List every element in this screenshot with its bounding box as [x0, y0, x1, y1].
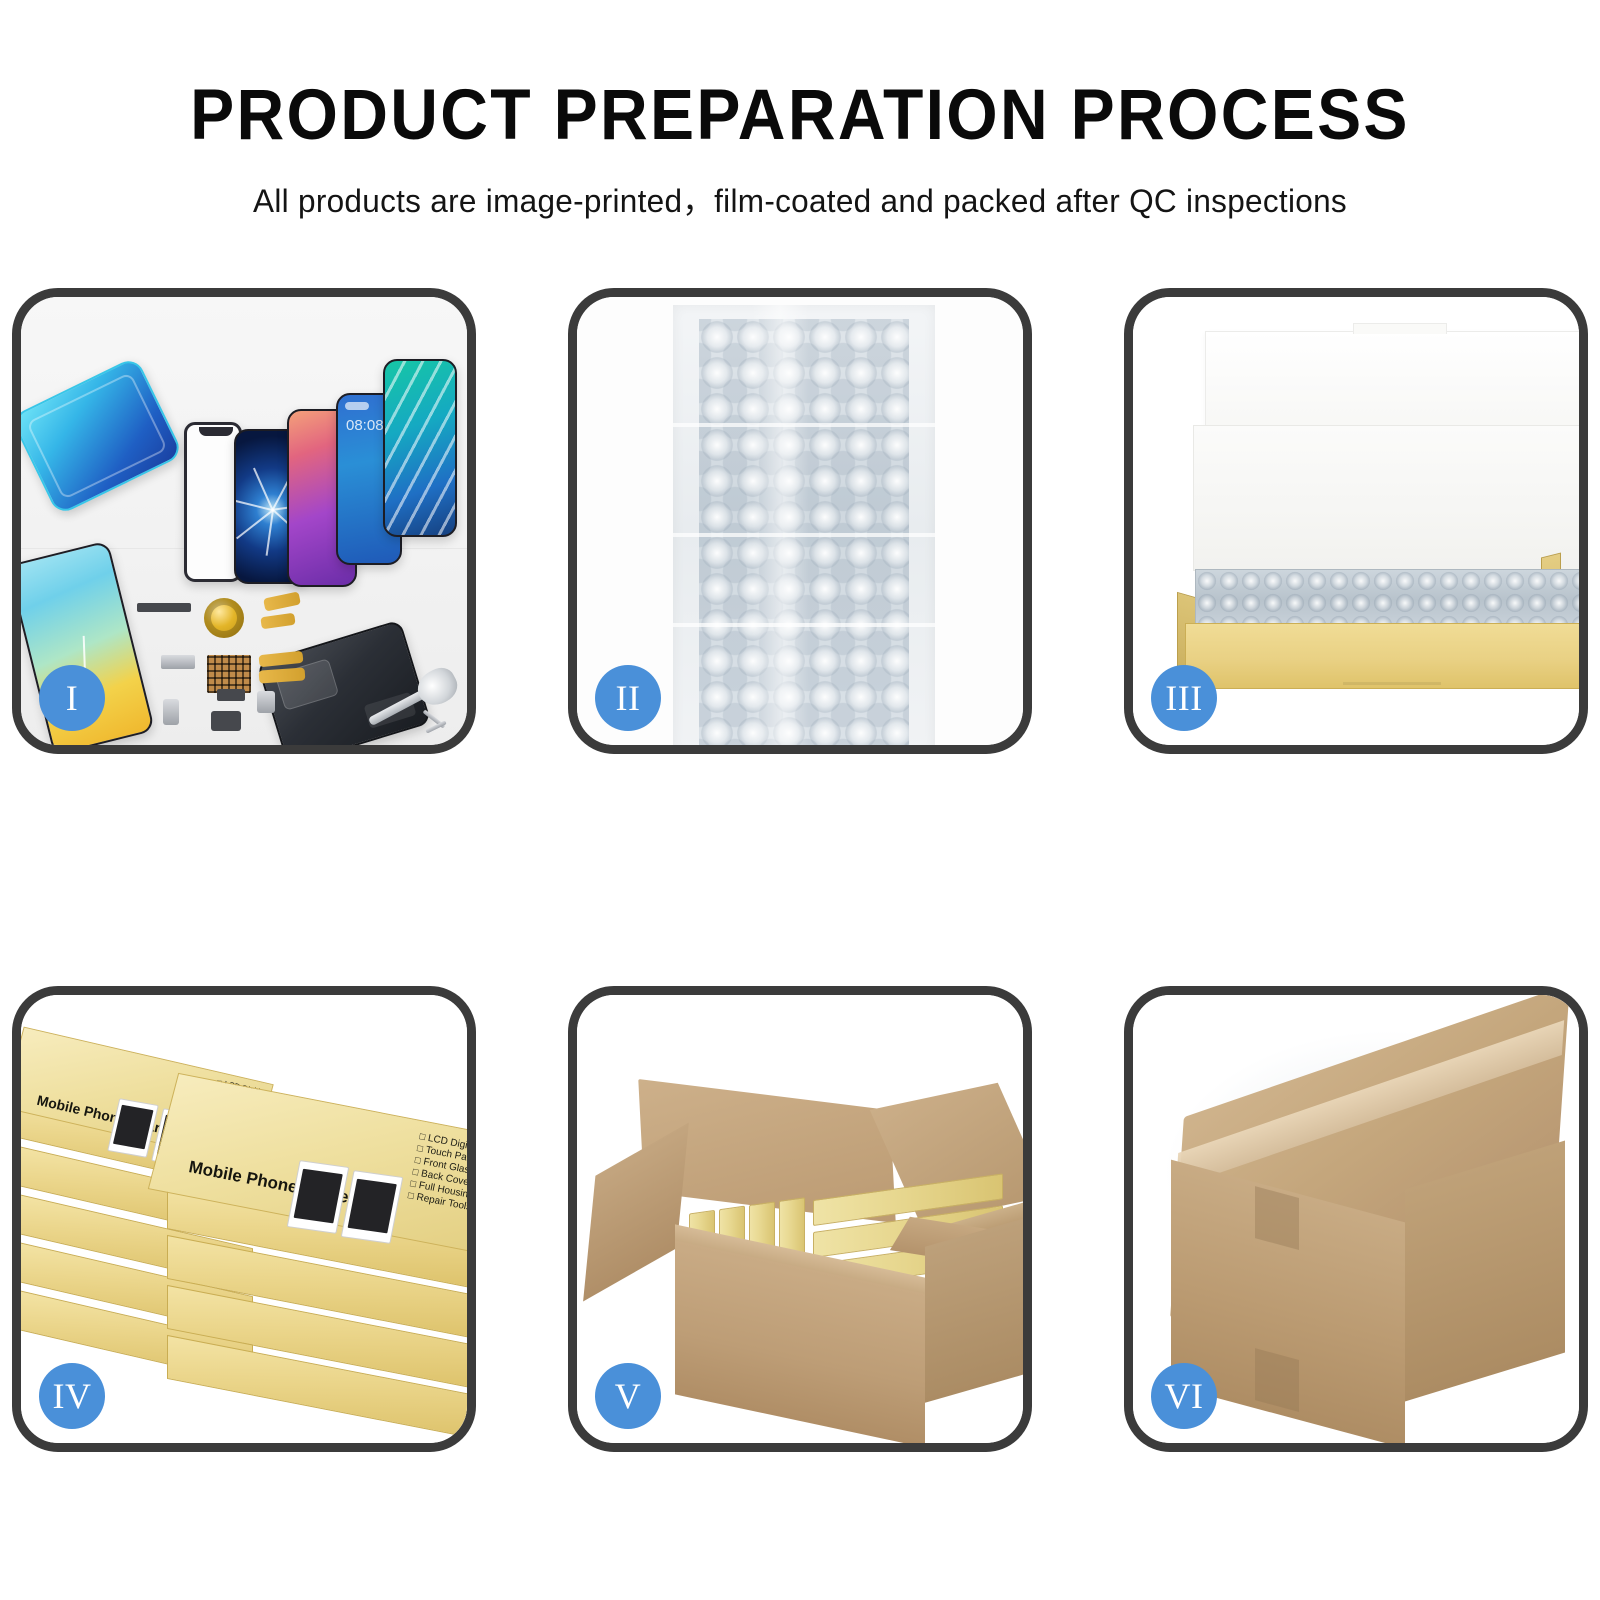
mailer-front-panel: [1185, 623, 1579, 689]
process-step-1: 08:08: [12, 288, 476, 754]
ic-chip-part: [207, 655, 251, 693]
process-step-2: II: [568, 288, 1032, 754]
bubble-seam-top: [673, 423, 935, 427]
vibrator-motor-part: [161, 655, 195, 669]
header: PRODUCT PREPARATION PROCESS All products…: [0, 78, 1600, 222]
carton-hand-hole-front: [1255, 1186, 1299, 1250]
step-badge-5: V: [595, 1363, 661, 1429]
sim-tray-part: [163, 699, 179, 725]
infographic-page: PRODUCT PREPARATION PROCESS All products…: [0, 0, 1600, 1600]
teal-screen-phone: [383, 359, 457, 537]
step-badge-4: IV: [39, 1363, 105, 1429]
mailer-foam-liner: [1193, 425, 1579, 571]
step-badge-6: VI: [1151, 1363, 1217, 1429]
phone-clock: 08:08: [346, 417, 384, 434]
carton-hand-hole-bottom: [1255, 1348, 1299, 1412]
bubble-seam-mid: [673, 533, 935, 537]
camera-module-part: [257, 691, 275, 713]
bubble-seam-bottom: [673, 623, 935, 627]
page-title: PRODUCT PREPARATION PROCESS: [56, 78, 1544, 155]
page-subtitle: All products are image-printed，film-coat…: [24, 175, 1576, 222]
wireless-charging-coil: [204, 598, 244, 638]
earpiece-mesh-part: [137, 603, 191, 612]
process-step-5: V: [568, 986, 1032, 1452]
process-step-4: Mobile Phone Spare Parts LCD Digitizer T…: [12, 986, 476, 1452]
process-step-6: VI: [1124, 986, 1588, 1452]
process-step-3: III: [1124, 288, 1588, 754]
step-badge-2: II: [595, 665, 661, 731]
wrapped-product-in-box: [1195, 569, 1579, 625]
battery-connector-part: [211, 711, 241, 731]
bubble-highlight: [752, 305, 810, 745]
process-grid: 08:08: [12, 288, 1588, 1452]
bubble-wrap-sheet: [673, 305, 935, 745]
step-badge-3: III: [1151, 665, 1217, 731]
step-badge-1: I: [39, 665, 105, 731]
speaker-module-part: [217, 689, 245, 701]
camera-notch-icon: [345, 402, 369, 410]
